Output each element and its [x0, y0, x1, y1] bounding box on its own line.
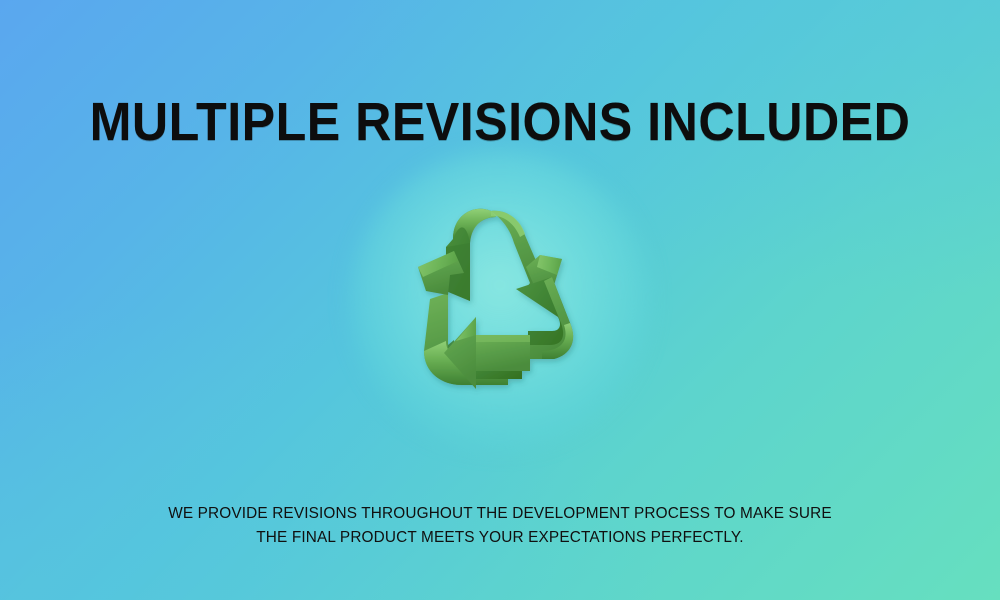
recycle-icon: [390, 195, 610, 400]
subtitle: WE PROVIDE REVISIONS THROUGHOUT THE DEVE…: [145, 502, 855, 550]
subtitle-line-2: THE FINAL PRODUCT MEETS YOUR EXPECTATION…: [145, 526, 855, 550]
page-title: MULTIPLE REVISIONS INCLUDED: [35, 94, 965, 151]
slide-canvas: MULTIPLE REVISIONS INCLUDED: [0, 0, 1000, 600]
subtitle-line-1: WE PROVIDE REVISIONS THROUGHOUT THE DEVE…: [145, 502, 855, 526]
